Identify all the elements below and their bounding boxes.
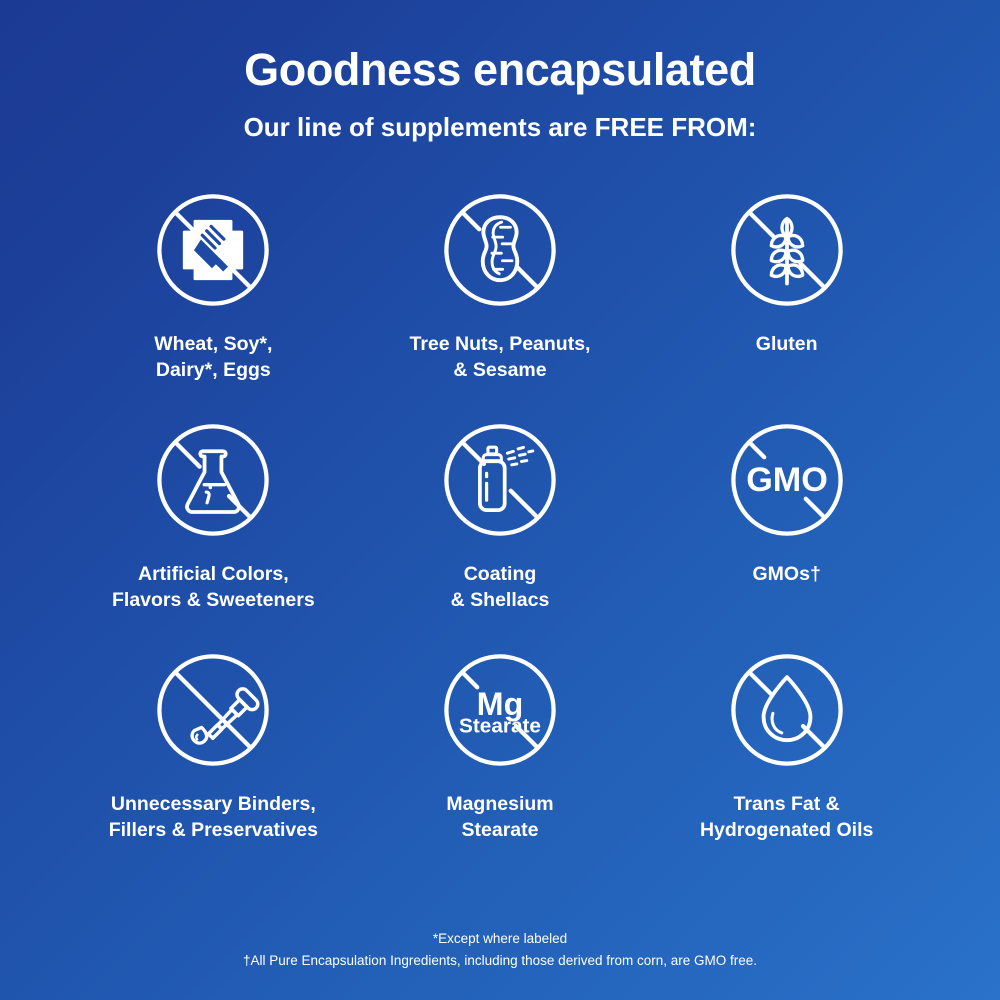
no-flask-icon [146, 413, 280, 547]
gmo-icon-text: GMO [746, 461, 828, 499]
footnote-asterisk: *Except where labeled [0, 928, 1000, 950]
no-gmo-icon: GMO [720, 413, 854, 547]
grid-item-gluten: Gluten [643, 183, 930, 413]
grid-item-trans-fat: Trans Fat & Hydrogenated Oils [643, 643, 930, 873]
grid-item-allergens: Wheat, Soy*, Dairy*, Eggs [70, 183, 357, 413]
footnotes: *Except where labeled †All Pure Encapsul… [0, 928, 1000, 972]
grid-item-label: Artificial Colors, Flavors & Sweeteners [112, 561, 315, 613]
no-wheat-stalk-icon [720, 183, 854, 317]
grid-item-label: Gluten [756, 331, 818, 357]
grid-item-label: Trans Fat & Hydrogenated Oils [700, 791, 873, 843]
grid-item-label: Wheat, Soy*, Dairy*, Eggs [154, 331, 272, 383]
grid-item-magnesium-stearate: Mg Stearate Magnesium Stearate [357, 643, 644, 873]
page-title: Goodness encapsulated [0, 46, 1000, 95]
grid-item-binders: Unnecessary Binders, Fillers & Preservat… [70, 643, 357, 873]
grid-item-nuts: Tree Nuts, Peanuts, & Sesame [357, 183, 644, 413]
no-oil-droplet-icon [720, 643, 854, 777]
grid-item-label: Coating & Shellacs [451, 561, 550, 613]
footnote-dagger: †All Pure Encapsulation Ingredients, inc… [0, 950, 1000, 972]
grid-item-label: Magnesium Stearate [446, 791, 553, 843]
grid-item-label: Tree Nuts, Peanuts, & Sesame [410, 331, 591, 383]
page-subtitle: Our line of supplements are FREE FROM: [0, 113, 1000, 142]
no-spray-can-icon [433, 413, 567, 547]
poster-header: Goodness encapsulated Our line of supple… [0, 0, 1000, 141]
no-peanut-icon [433, 183, 567, 317]
free-from-poster: Goodness encapsulated Our line of supple… [0, 0, 1000, 1000]
no-magnesium-stearate-icon: Mg Stearate [433, 643, 567, 777]
grid-item-label: Unnecessary Binders, Fillers & Preservat… [109, 791, 318, 843]
stearate-icon-text: Stearate [459, 715, 541, 738]
grid-item-coating: Coating & Shellacs [357, 413, 644, 643]
grid-item-label: GMOs† [753, 561, 821, 587]
no-allergen-cross-fork-icon [146, 183, 280, 317]
free-from-grid: Wheat, Soy*, Dairy*, Eggs [70, 183, 930, 873]
no-dropper-icon [146, 643, 280, 777]
grid-item-artificial-colors: Artificial Colors, Flavors & Sweeteners [70, 413, 357, 643]
grid-item-gmo: GMO GMOs† [643, 413, 930, 643]
